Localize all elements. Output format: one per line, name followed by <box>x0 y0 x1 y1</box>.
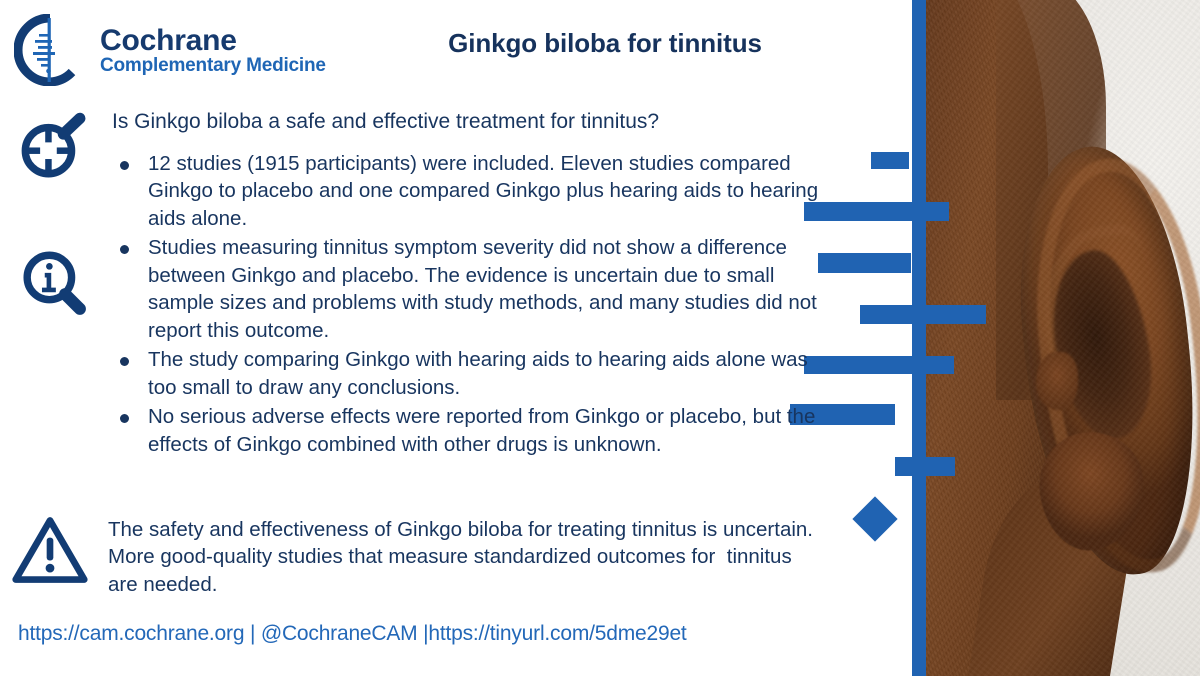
list-item: Studies measuring tinnitus symptom sever… <box>112 234 824 344</box>
cochrane-logo-block: Cochrane Complementary Medicine <box>14 14 326 86</box>
list-item: The study comparing Ginkgo with hearing … <box>112 346 824 401</box>
brand-subtitle: Complementary Medicine <box>100 56 326 76</box>
ear-close-up-photo <box>918 0 1200 676</box>
page-title: Ginkgo biloba for tinnitus <box>370 28 840 59</box>
cochrane-logo-icon <box>14 14 86 86</box>
conclusion-text: The safety and effectiveness of Ginkgo b… <box>108 516 826 598</box>
target-icon <box>6 110 102 184</box>
forest-plot-bar <box>871 152 909 169</box>
brand-name: Cochrane <box>100 25 326 56</box>
research-question: Is Ginkgo biloba a safe and effective tr… <box>112 108 822 135</box>
ear-tragus <box>1036 352 1078 410</box>
magnifier-info-icon <box>6 246 102 320</box>
list-item: No serious adverse effects were reported… <box>112 403 824 458</box>
footer-links[interactable]: https://cam.cochrane.org | @CochraneCAM … <box>18 622 687 646</box>
list-item: 12 studies (1915 participants) were incl… <box>112 150 824 232</box>
warning-triangle-icon <box>2 512 98 588</box>
forest-plot-bar <box>818 253 911 273</box>
key-findings-list: 12 studies (1915 participants) were incl… <box>112 150 824 460</box>
infographic-poster: Cochrane Complementary Medicine Ginkgo b… <box>0 0 1200 676</box>
forest-plot-summary-diamond <box>852 496 897 541</box>
cochrane-logo-wordmark: Cochrane Complementary Medicine <box>100 25 326 76</box>
